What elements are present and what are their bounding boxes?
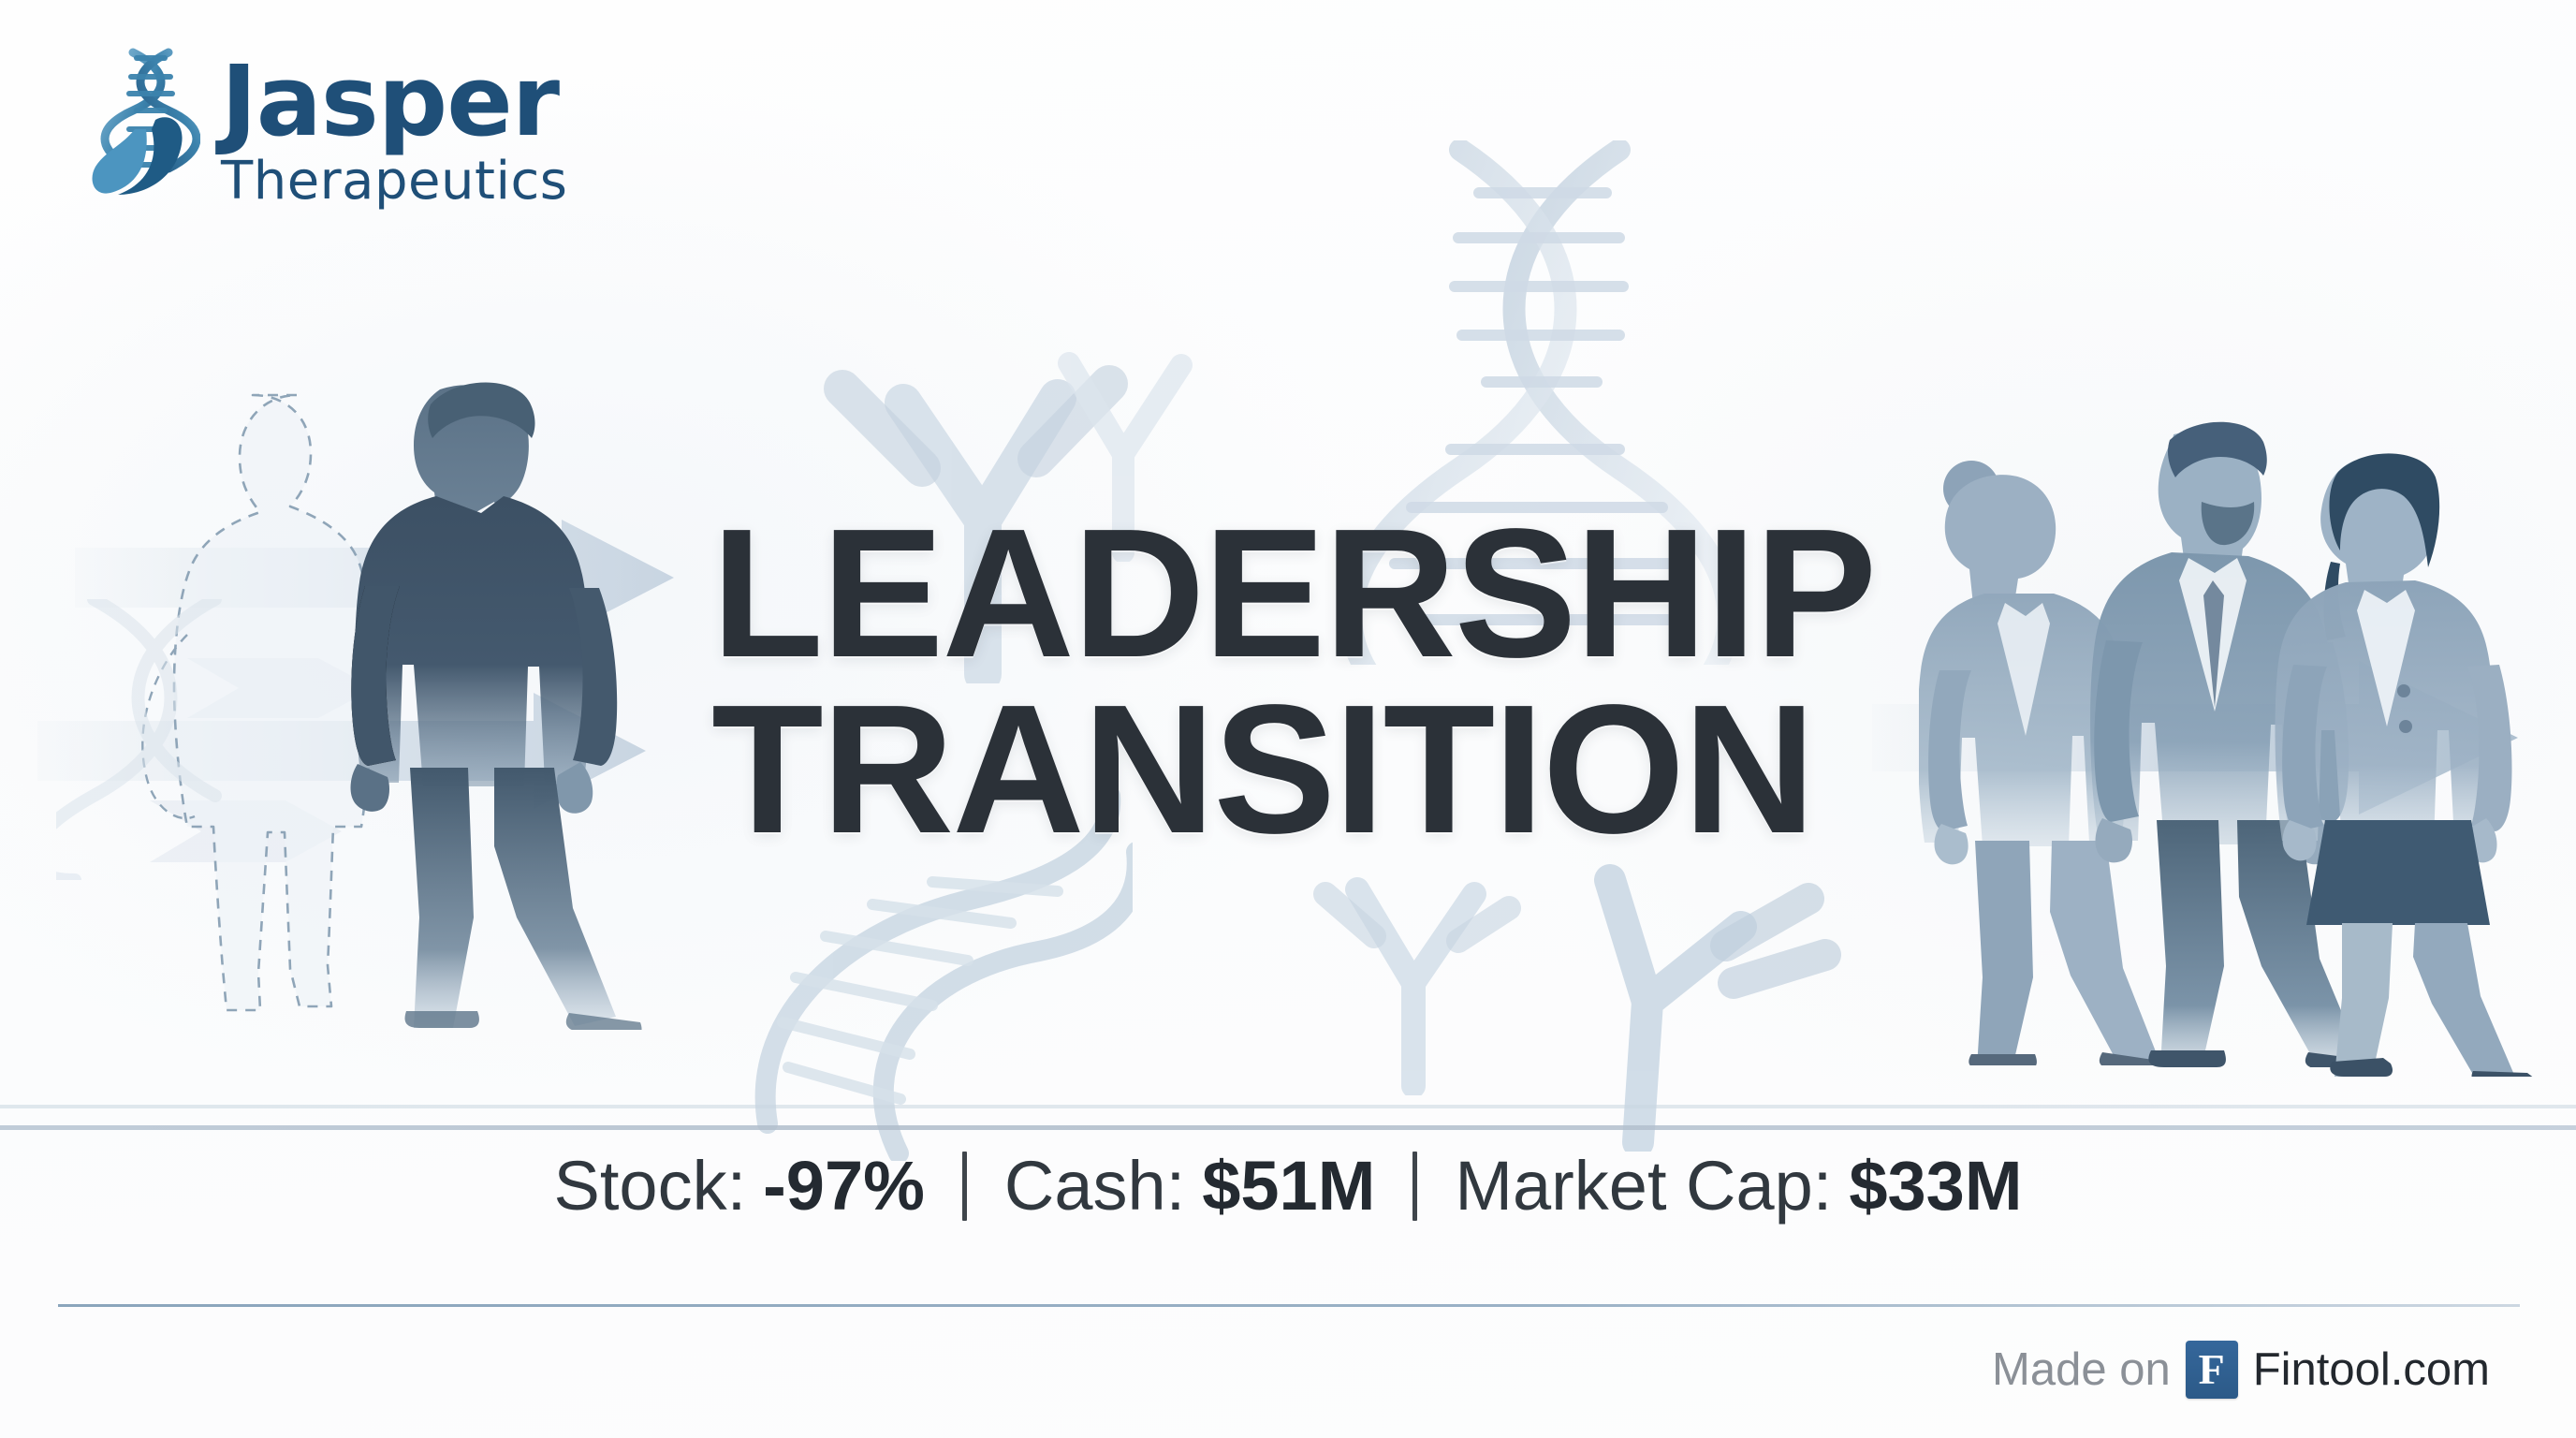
logo-wordmark: Jasper Therapeutics [221,39,567,208]
dna-helix-icon [90,39,200,197]
stats-bar: Stock: -97% Cash: $51M Market Cap: $33M [0,1152,2576,1221]
stat-cash-value: $51M [1202,1152,1375,1221]
fintool-logo-letter: F [2199,1348,2225,1391]
incoming-leader-man [2069,412,2387,1067]
antibody-watermark-left-small [1301,852,1544,1095]
stat-stock-value: -97% [763,1152,925,1221]
incoming-leader-woman-back [1919,448,2190,1065]
footer-attribution: Made on F Fintool.com [1992,1341,2490,1399]
logo-company-name: Jasper [221,52,567,150]
logo-company-subtitle: Therapeutics [221,155,567,208]
motion-arrow-right [1872,599,2546,908]
stat-cash-label: Cash: [1004,1152,1185,1221]
leadership-transition-card: Jasper Therapeutics LEADERSHIP TRANSITIO… [0,0,2576,1438]
fintool-logo-icon: F [2186,1341,2238,1399]
divider-bottom [58,1304,2520,1307]
made-on-label: Made on [1992,1347,2171,1393]
departing-executive-figure [300,356,693,1030]
stat-separator-2 [1412,1152,1417,1221]
page-title: LEADERSHIP TRANSITION [711,506,1947,858]
ground-line [0,1101,2576,1114]
divider-top [0,1125,2576,1130]
stat-cash: Cash: $51M [1004,1152,1375,1221]
stat-market-cap: Market Cap: $33M [1455,1152,2022,1221]
stat-stock-label: Stock: [554,1152,747,1221]
ghost-outline-figure [112,354,449,1028]
incoming-leader-woman-front [2265,440,2555,1077]
company-logo: Jasper Therapeutics [90,39,567,208]
headline-line-1: LEADERSHIP [711,491,1875,696]
headline-line-2: TRANSITION [711,682,1947,858]
stat-market-cap-value: $33M [1849,1152,2022,1221]
antibody-watermark-center-bottom [1516,843,1853,1152]
dna-helix-watermark-left [56,599,271,880]
stat-separator-1 [962,1152,967,1221]
motion-arrows-left [37,520,749,913]
fintool-brand-name[interactable]: Fintool.com [2253,1347,2490,1393]
stat-stock: Stock: -97% [554,1152,925,1221]
stat-market-cap-label: Market Cap: [1455,1152,1832,1221]
